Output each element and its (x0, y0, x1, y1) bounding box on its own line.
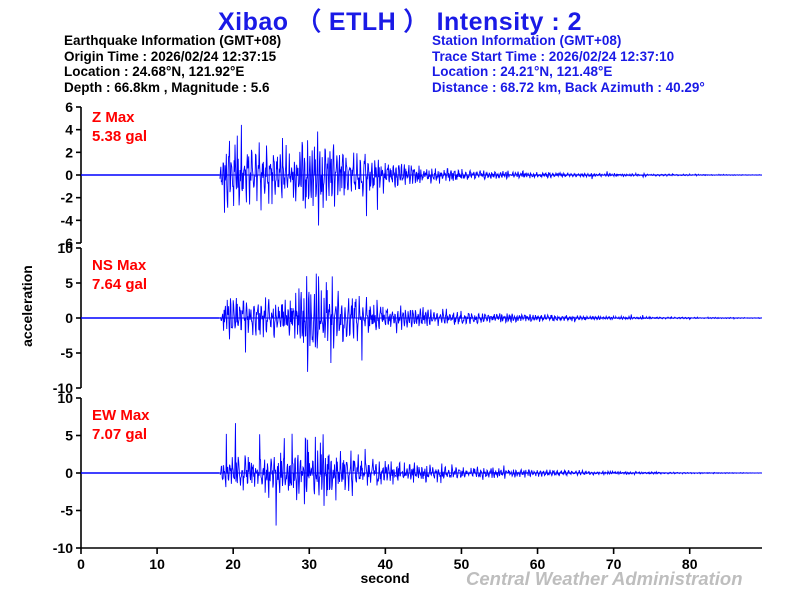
channel-annotation-z: Z Max 5.38 gal (92, 108, 147, 146)
channel-annotation-ns-value: 7.64 gal (92, 275, 147, 294)
y-axis-tick-label: 10 (57, 390, 73, 406)
y-axis-tick-label: 6 (65, 99, 73, 115)
channel-annotation-ew-label: EW Max (92, 406, 150, 425)
x-axis-tick-label: 30 (301, 556, 317, 572)
y-axis-tick-label: 0 (65, 465, 73, 481)
y-axis-tick-label: 5 (65, 428, 73, 444)
y-axis-tick-label: 5 (65, 275, 73, 291)
x-axis-tick-label: 20 (225, 556, 241, 572)
x-axis-tick-label: 0 (77, 556, 85, 572)
y-axis-tick-label: -10 (53, 540, 73, 556)
y-axis-tick-label: 2 (65, 144, 73, 160)
channel-annotation-z-label: Z Max (92, 108, 147, 127)
waveform-trace-ew (220, 423, 762, 525)
y-axis-tick-label: -5 (61, 503, 74, 519)
x-axis-tick-label: 10 (149, 556, 165, 572)
x-axis-label: second (330, 570, 440, 586)
channel-annotation-ns: NS Max 7.64 gal (92, 256, 147, 294)
y-axis-tick-label: -2 (61, 190, 74, 206)
channel-annotation-z-value: 5.38 gal (92, 127, 147, 146)
channel-panel-ns: 1050-5-10 (53, 240, 762, 396)
y-axis-label: acceleration (19, 241, 35, 371)
waveform-trace-ns (220, 274, 762, 372)
channel-annotation-ew-value: 7.07 gal (92, 425, 150, 444)
seismogram-plot: 6420-2-4-61050-5-101050-5-10010203040506… (0, 0, 800, 600)
y-axis-tick-label: -4 (61, 212, 74, 228)
y-axis-tick-label: 10 (57, 240, 73, 256)
y-axis-tick-label: -5 (61, 345, 74, 361)
channel-annotation-ns-label: NS Max (92, 256, 147, 275)
agency-watermark: Central Weather Administration (466, 568, 743, 590)
y-axis-tick-label: 0 (65, 167, 73, 183)
y-axis-tick-label: 0 (65, 310, 73, 326)
channel-panel-z: 6420-2-4-6 (61, 99, 762, 251)
channel-panel-ew: 1050-5-1001020304050607080 (53, 390, 762, 572)
y-axis-tick-label: 4 (65, 122, 73, 138)
channel-annotation-ew: EW Max 7.07 gal (92, 406, 150, 444)
